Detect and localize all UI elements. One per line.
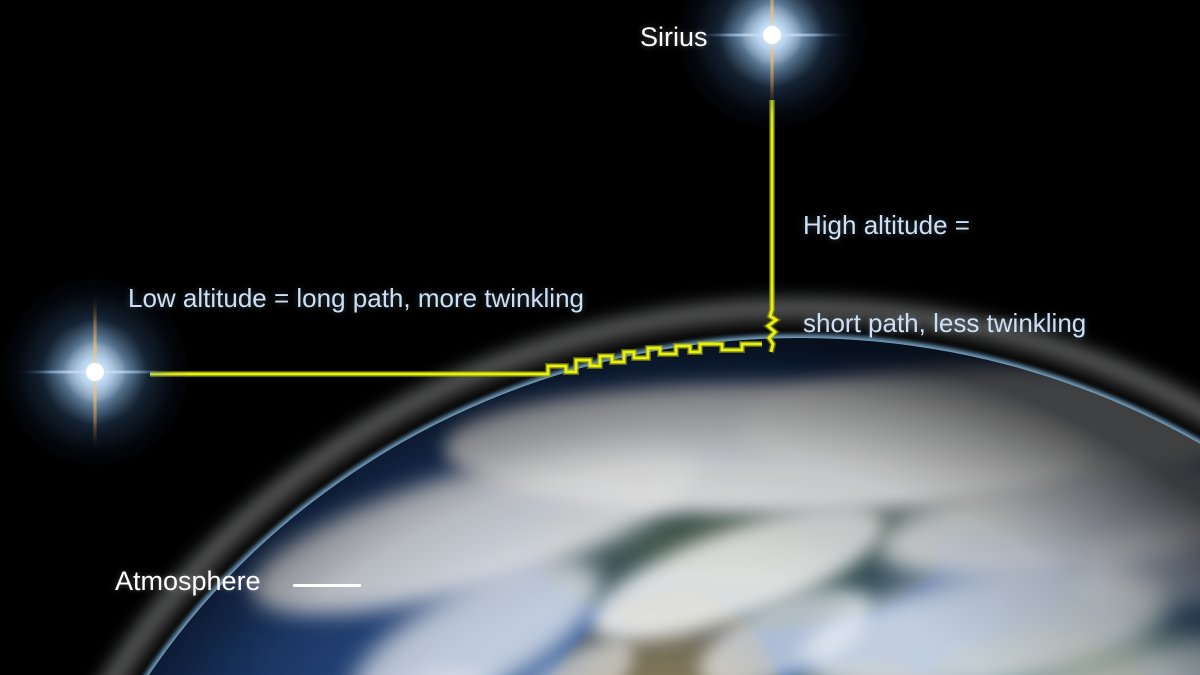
horizontal-ray-low-altitude bbox=[150, 344, 762, 374]
low-altitude-annotation: Low altitude = long path, more twinkling bbox=[128, 282, 584, 315]
horizontal-ray-edge bbox=[150, 344, 762, 374]
diagram-canvas: Sirius High altitude = short path, less … bbox=[0, 0, 1200, 675]
star-diffraction-spikes bbox=[687, 0, 857, 120]
sirius-label: Sirius bbox=[640, 20, 708, 54]
atmosphere-label: Atmosphere bbox=[115, 564, 261, 598]
atmosphere-pointer-line bbox=[293, 584, 361, 587]
low-altitude-star bbox=[35, 312, 155, 432]
high-altitude-line1: High altitude = bbox=[803, 209, 1086, 242]
high-altitude-annotation: High altitude = short path, less twinkli… bbox=[803, 143, 1086, 405]
high-altitude-line2: short path, less twinkling bbox=[803, 307, 1086, 340]
sirius-star bbox=[712, 0, 832, 95]
